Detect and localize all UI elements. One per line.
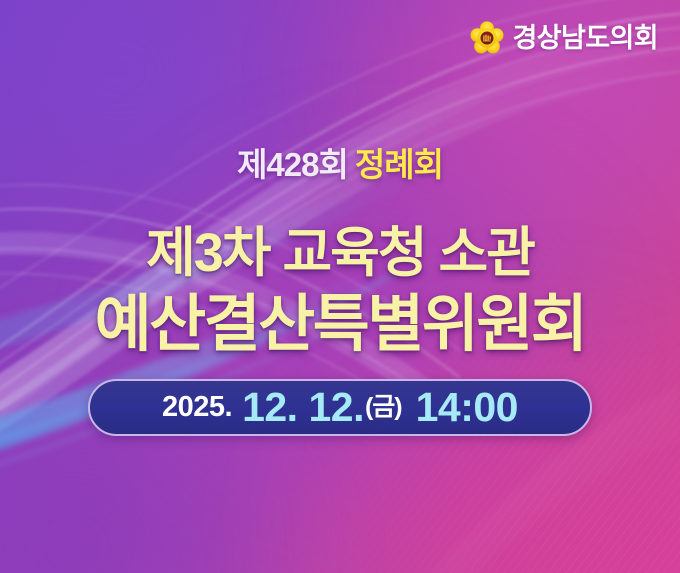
glow-blob-bottom-left bbox=[0, 333, 310, 573]
gyeongnam-council-emblem-icon bbox=[470, 21, 504, 55]
schedule-badge: 2025. 12. 12. (금) 14:00 bbox=[88, 379, 592, 436]
page-title-line-1: 제3차 교육청 소관 bbox=[0, 226, 680, 280]
emblem-flower-shape-icon bbox=[470, 21, 504, 55]
schedule-weekday: (금) bbox=[365, 395, 402, 420]
schedule-year: 2025. bbox=[162, 393, 232, 422]
page-title-line-2: 예산결산특별위원회 bbox=[0, 294, 680, 356]
assembly-session-banner: 경상남도의회 제428회정례회 제3차 교육청 소관 예산결산특별위원회 202… bbox=[0, 0, 680, 573]
background-gradient-layer bbox=[0, 0, 680, 573]
organization-name: 경상남도의회 bbox=[513, 25, 658, 52]
schedule-time: 14:00 bbox=[416, 387, 518, 428]
light-ribbon-decoration bbox=[0, 0, 680, 573]
session-number: 제428회 bbox=[237, 146, 348, 183]
ribbon-swirl-icon bbox=[0, 0, 680, 573]
session-line: 제428회정례회 bbox=[0, 148, 680, 181]
schedule-month-day: 12. 12. bbox=[242, 387, 364, 428]
diagonal-stripe-texture bbox=[0, 0, 680, 573]
council-brand-header: 경상남도의회 bbox=[470, 21, 658, 55]
session-kind: 정례회 bbox=[355, 146, 443, 183]
